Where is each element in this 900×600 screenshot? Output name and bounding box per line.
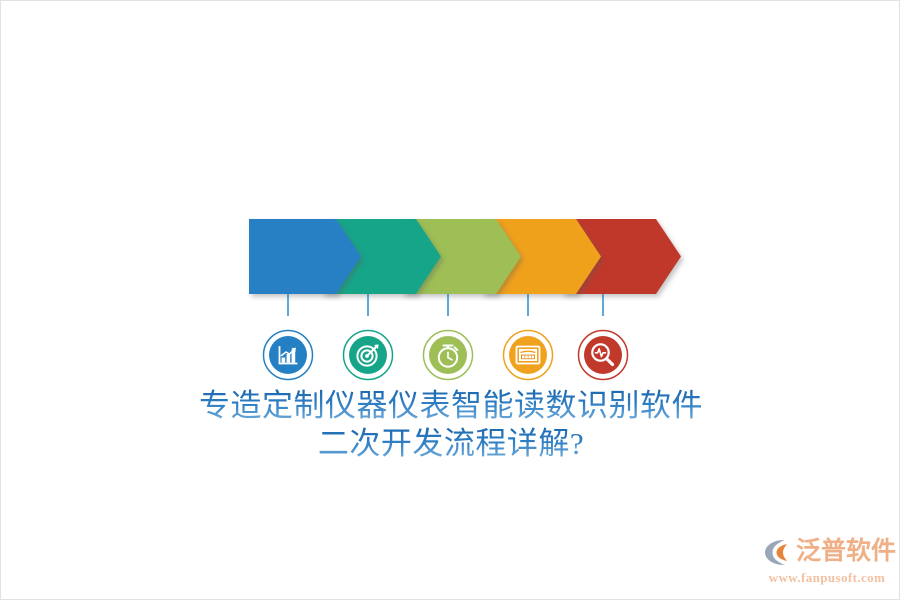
brand-name: 泛普软件 — [796, 537, 896, 567]
poster-title: 专造定制仪器仪表智能读数识别软件 二次开发流程详解? — [1, 387, 900, 463]
icon-badge-row — [251, 323, 651, 387]
step-badge-4[interactable] — [504, 331, 553, 380]
brand-watermark: 泛普软件 www.fanpusoft.com — [763, 535, 891, 589]
title-line-2: 二次开发流程详解? — [1, 425, 900, 463]
step-badge-1[interactable] — [264, 331, 313, 380]
brand-logo-row: 泛普软件 — [763, 535, 891, 569]
process-infographic — [1, 1, 900, 600]
fanpu-c-mark-icon — [763, 537, 793, 567]
connector-lines — [288, 294, 603, 316]
brand-url: www.fanpusoft.com — [763, 570, 891, 586]
step-badge-2[interactable] — [344, 331, 393, 380]
step-badge-3[interactable] — [424, 331, 473, 380]
monitor-screen-icon — [517, 347, 540, 364]
poster-canvas: 专造定制仪器仪表智能读数识别软件 二次开发流程详解? 泛普软件 www.fanp… — [0, 0, 900, 600]
chevron-banner — [231, 206, 701, 316]
title-line-1: 专造定制仪器仪表智能读数识别软件 — [1, 387, 900, 425]
step-badge-5[interactable] — [579, 331, 628, 380]
